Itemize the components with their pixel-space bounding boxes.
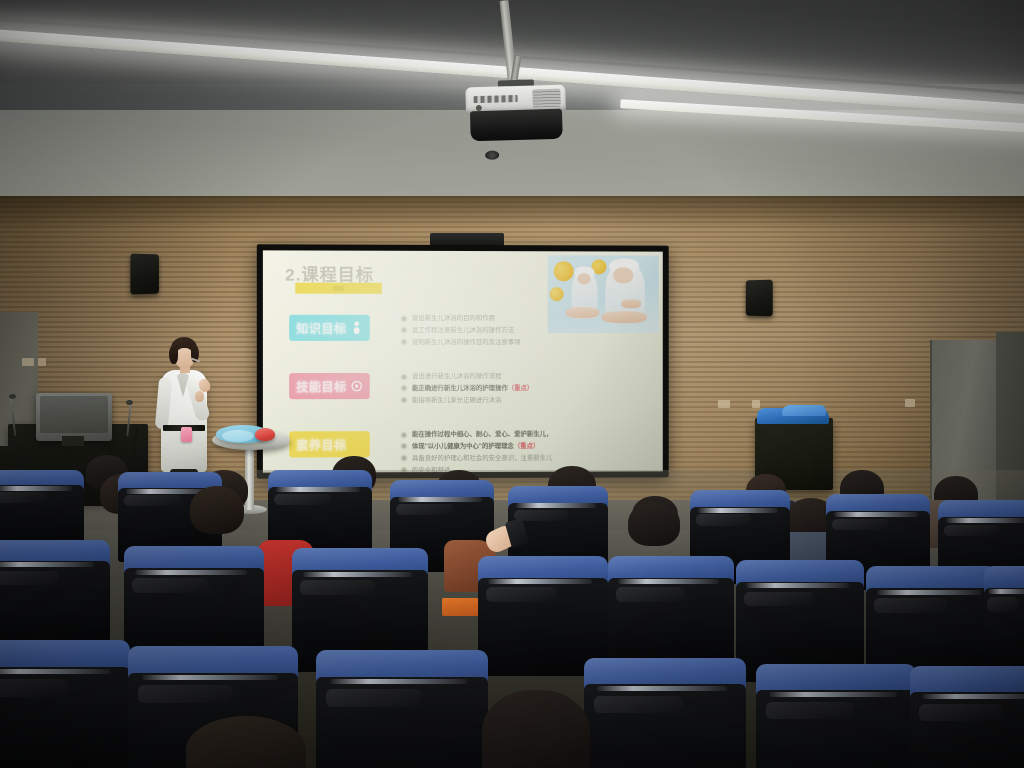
bullet-item: 能指导新生儿家长正确进行沐浴 — [402, 395, 533, 407]
presenter-hand-left — [195, 391, 204, 402]
lecture-hall-photo: 2.课程目标 目标 知识目标 说出新生儿沐浴的目的和作用 说工作程注意新生儿沐浴… — [0, 0, 1024, 768]
presenter-hair-side-left — [169, 345, 178, 364]
demonstration-doll — [255, 428, 275, 441]
objective-tag-skill: 技能目标 — [289, 373, 370, 399]
target-icon — [351, 379, 363, 393]
wall-plate-3 — [718, 400, 730, 408]
blue-cloth-pile-top — [782, 405, 826, 416]
objective-tag-knowledge-label: 知识目标 — [296, 319, 346, 336]
bullet-item: 具备良好的护理心和社会的安全意识，注意新生儿 — [402, 452, 552, 464]
monitor-screen — [40, 396, 108, 433]
wall-plate-4 — [752, 400, 760, 408]
bullet-item-key: 能正确进行新生儿沐浴的护理操作（重点） — [402, 383, 533, 395]
slide-photo-nurses-bathing-infant — [548, 255, 659, 333]
audience-head-foreground — [482, 690, 590, 768]
projector-body — [470, 109, 563, 142]
wall-plate-1 — [22, 358, 34, 366]
wall-speaker-left — [130, 254, 159, 295]
bullet-list-knowledge: 说出新生儿沐浴的目的和作用 说工作程注意新生儿沐浴的操作方法 说明新生儿沐浴的操… — [402, 313, 521, 349]
bullet-item-text: 体现"以小儿健康为中心"的护理理念 — [412, 443, 514, 450]
person-icon — [351, 321, 363, 335]
presentation-slide: 2.课程目标 目标 知识目标 说出新生儿沐浴的目的和作用 说工作程注意新生儿沐浴… — [263, 250, 663, 472]
bullet-item: 说明新生儿沐浴的操作目的及注意事项 — [402, 337, 521, 349]
audience-head — [190, 486, 244, 534]
bullet-item: 能在操作过程中细心、耐心、爱心、爱护新生儿， — [402, 429, 552, 441]
bullet-item-text: 能正确进行新生儿沐浴的护理操作 — [412, 385, 508, 392]
objective-tag-literacy-label: 素养目标 — [296, 436, 346, 453]
screen-surface: 2.课程目标 目标 知识目标 说出新生儿沐浴的目的和作用 说工作程注意新生儿沐浴… — [263, 250, 663, 472]
key-point-marker: （重点） — [508, 385, 533, 392]
bullet-list-skill: 说出进行新生儿沐浴的操作流程 能正确进行新生儿沐浴的护理操作（重点） 能指导新生… — [402, 371, 533, 407]
auditorium-seat[interactable] — [756, 664, 916, 768]
objective-tag-literacy: 素养目标 — [289, 431, 370, 457]
bullet-list-literacy: 能在操作过程中细心、耐心、爱心、爱护新生儿， 体现"以小儿健康为中心"的护理理念… — [402, 429, 552, 473]
podium-monitor — [36, 393, 112, 441]
auditorium-seat[interactable] — [316, 650, 488, 768]
wall-plate-5 — [905, 399, 915, 407]
objective-tag-skill-label: 技能目标 — [296, 378, 346, 395]
auditorium-seat[interactable] — [0, 640, 130, 768]
microphone-head-right — [126, 400, 133, 405]
monitor-stand — [62, 436, 84, 446]
audience-head — [628, 502, 680, 546]
microphone-head-left — [9, 394, 16, 399]
slide-title-bar-text: 目标 — [333, 284, 345, 293]
bullet-item: 说出新生儿沐浴的目的和作用 — [402, 313, 521, 325]
auditorium-seat[interactable] — [584, 658, 746, 768]
presenter-microphone-pack — [181, 427, 192, 442]
ceiling-projector — [465, 85, 566, 142]
wall-top-shadow — [0, 196, 1024, 230]
bullet-item: 说出进行新生儿沐浴的操作流程 — [402, 371, 533, 383]
wall-speaker-right — [746, 280, 773, 317]
key-point-marker: （重点） — [514, 443, 539, 450]
blue-cloth-highlight — [222, 430, 254, 442]
slide-title-underline-bar: 目标 — [295, 283, 382, 294]
projector-ports-icon — [474, 95, 518, 103]
auditorium-seat[interactable] — [478, 556, 608, 676]
bullet-item-key: 体现"以小儿健康为中心"的护理理念（重点） — [402, 441, 552, 453]
objective-tag-knowledge: 知识目标 — [289, 315, 370, 341]
projection-screen: 2.课程目标 目标 知识目标 说出新生儿沐浴的目的和作用 说工作程注意新生儿沐浴… — [257, 244, 669, 478]
wall-plate-2 — [38, 358, 46, 366]
projector-vent-icon — [532, 89, 560, 108]
bullet-item: 说工作程注意新生儿沐浴的操作方法 — [402, 325, 521, 337]
auditorium-seat[interactable] — [910, 666, 1024, 768]
